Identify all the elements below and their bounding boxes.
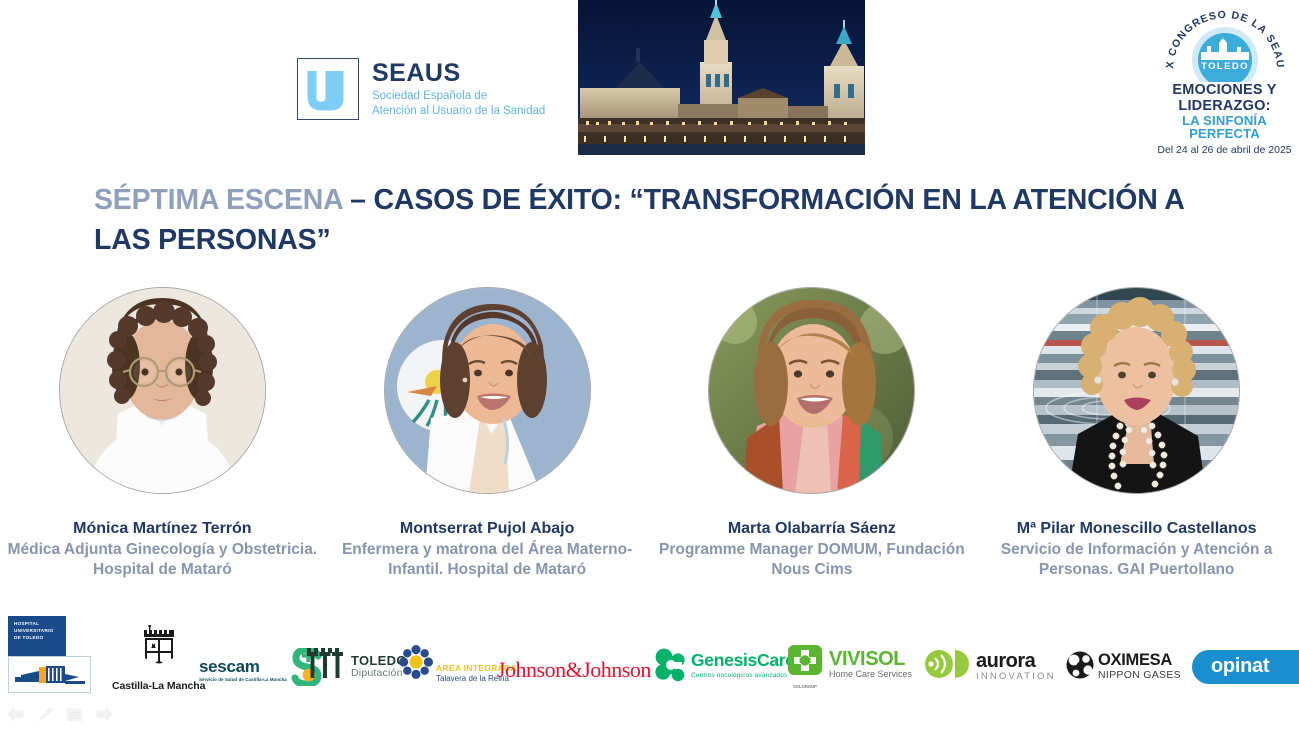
aurora-label: aurora: [976, 651, 1056, 671]
pen-icon[interactable]: [37, 707, 53, 722]
sponsor-bar: HOSPITAL UNIVERSITARIO DE TOLEDO: [0, 612, 1299, 702]
seaus-logo: SEAUS Sociedad Española de Atención al U…: [297, 58, 545, 120]
oximesa-sphere-icon: [1065, 650, 1095, 685]
johnson-and-johnson-label: Johnson&Johnson: [497, 657, 651, 683]
speaker-card: Montserrat Pujol Abajo Enfermera y matro…: [325, 288, 650, 598]
genesiscare-label: GenesisCare: [691, 652, 795, 670]
speaker-role: Servicio de Información y Atención a Per…: [978, 540, 1296, 579]
congress-theme-line1: EMOCIONES Y: [1150, 83, 1299, 98]
vivisol-mark-label: SOLGROUP: [787, 684, 823, 689]
hut-line3: DE TOLEDO: [14, 635, 66, 642]
sponsor-logo-toledo-diputacion: TOLEDO Diputación: [305, 648, 407, 685]
vivisol-mark-icon: SOLGROUP: [787, 644, 823, 689]
sponsor-logo-oximesa: OXIMESA NIPPON GASES: [1065, 650, 1181, 685]
speaker-card: Marta Olabarría Sáenz Programme Manager …: [650, 288, 975, 598]
portrait-photo-montserrat-pujol: [385, 288, 590, 493]
congress-dates: Del 24 al 26 de abril de 2025: [1150, 144, 1299, 156]
sponsor-logo-johnson-and-johnson: Johnson&Johnson: [497, 657, 651, 683]
congress-badge: TOLEDO XX CONGRESO DE LA SEAUS EMOCIONES…: [1150, 2, 1299, 162]
svg-text:TOLEDO: TOLEDO: [1201, 61, 1249, 72]
toledo-skyline-night-photo: [578, 0, 865, 155]
slide-title-scene: SÉPTIMA ESCENA: [94, 184, 342, 216]
congress-theme-line3: LA SINFONÍA: [1150, 114, 1299, 128]
aurora-tagline: INNOVATION: [976, 672, 1056, 682]
oximesa-tagline: NIPPON GASES: [1098, 670, 1181, 682]
sescam-tagline: Servicio de Salud de Castilla-La Mancha: [199, 677, 287, 682]
congress-theme-line4: PERFECTA: [1150, 127, 1299, 141]
seaus-subtitle-line1: Sociedad Española de: [372, 89, 545, 103]
vivisol-label: VIVISOL: [829, 649, 912, 669]
forward-arrow-icon[interactable]: [96, 707, 113, 722]
sponsor-logo-opinat: opinat: [1192, 650, 1299, 684]
congress-seal-icon: TOLEDO XX CONGRESO DE LA SEAUS: [1150, 2, 1299, 82]
menu-icon[interactable]: [66, 708, 83, 722]
portrait-photo-marta-olabarria: [709, 288, 914, 493]
clm-crest-icon: [112, 625, 205, 678]
genesiscare-mark-icon: [653, 648, 689, 689]
slide-title: SÉPTIMA ESCENA – CASOS DE ÉXITO: “TRANSF…: [94, 180, 1204, 261]
clm-label: Castilla-La Mancha: [112, 680, 205, 692]
sponsor-logo-aurora-innovation: aurora INNOVATION: [925, 648, 1056, 685]
sponsor-logo-genesiscare: GenesisCare Centros oncológicos avanzado…: [653, 648, 795, 689]
seaus-name: SEAUS: [372, 60, 545, 86]
sescam-label: sescam: [199, 658, 287, 675]
speaker-role: Programme Manager DOMUM, Fundación Nous …: [653, 540, 971, 579]
sponsor-logo-castilla-la-mancha: Castilla-La Mancha: [112, 625, 205, 692]
speaker-name: Montserrat Pujol Abajo: [400, 519, 575, 538]
sponsor-logo-hospital-universitario-de-toledo: HOSPITAL UNIVERSITARIO DE TOLEDO: [8, 616, 91, 693]
speaker-name: Marta Olabarría Sáenz: [728, 519, 896, 538]
portrait-photo-monica-martinez: [60, 288, 265, 493]
seaus-subtitle-line2: Atención al Usuario de la Sanidad: [372, 104, 545, 118]
area-integrada-flower-icon: [399, 645, 433, 684]
toledo-diputacion-mark-icon: [305, 648, 345, 685]
presentation-toolbar[interactable]: [7, 707, 113, 722]
speaker-role: Médica Adjunta Ginecología y Obstetricia…: [3, 540, 321, 579]
seaus-monogram-icon: [297, 58, 359, 120]
vivisol-tagline: Home Care Services: [829, 670, 912, 680]
hut-line2: UNIVERSITARIO: [14, 628, 66, 635]
speaker-card: Mª Pilar Monescillo Castellanos Servicio…: [974, 288, 1299, 598]
speaker-grid: Mónica Martínez Terrón Médica Adjunta Gi…: [0, 288, 1299, 598]
portrait-photo-pilar-monescillo: [1034, 288, 1239, 493]
back-arrow-icon[interactable]: [7, 707, 24, 722]
speaker-name: Mª Pilar Monescillo Castellanos: [1017, 519, 1257, 538]
congress-theme-line2: LIDERAZGO:: [1150, 99, 1299, 114]
sponsor-logo-vivisol: SOLGROUP VIVISOL Home Care Services: [787, 644, 912, 689]
aurora-waves-icon: [925, 648, 969, 685]
speaker-role: Enfermera y matrona del Área Materno-Inf…: [328, 540, 646, 579]
speaker-name: Mónica Martínez Terrón: [73, 519, 251, 538]
speaker-card: Mónica Martínez Terrón Médica Adjunta Gi…: [0, 288, 325, 598]
opinat-label: opinat: [1211, 655, 1269, 677]
slide-header: SEAUS Sociedad Española de Atención al U…: [0, 0, 1299, 165]
hut-line1: HOSPITAL: [14, 621, 66, 628]
hut-building-icon: [8, 656, 91, 693]
oximesa-label: OXIMESA: [1098, 652, 1181, 669]
genesiscare-tagline: Centros oncológicos avanzados: [691, 672, 795, 679]
